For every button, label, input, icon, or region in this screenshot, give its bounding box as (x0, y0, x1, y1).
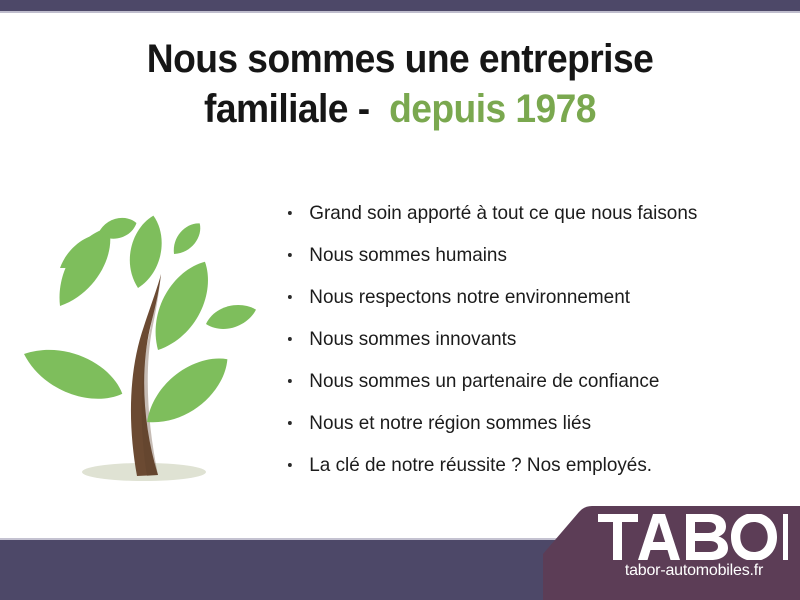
list-item-label: Nous respectons notre environnement (286, 276, 630, 318)
top-accent-bar-highlight (0, 11, 800, 13)
bullet-dot-icon (288, 295, 292, 299)
bullet-dot-icon (288, 379, 292, 383)
tree-leaf (167, 218, 207, 260)
list-item-label: Nous sommes humains (286, 234, 507, 276)
list-item: La clé de notre réussite ? Nos employés. (286, 444, 771, 486)
list-item: Nous sommes humains (286, 234, 771, 276)
list-item: Nous respectons notre environnement (286, 276, 771, 318)
slide-canvas: Nous sommes une entreprise familiale - d… (0, 0, 800, 600)
tree-trunk-shade (142, 274, 161, 476)
tree-illustration (16, 176, 276, 496)
tree-leaf (135, 344, 239, 438)
list-item-label: Grand soin apporté à tout ce que nous fa… (286, 192, 697, 234)
list-item-label: Nous sommes un partenaire de confiance (286, 360, 659, 402)
list-item: Nous et notre région sommes liés (286, 402, 771, 444)
page-title-accent: depuis 1978 (389, 87, 596, 131)
page-title-line-2-plain: familiale - (204, 87, 389, 131)
page-title-line-2: familiale - depuis 1978 (28, 84, 772, 134)
list-item: Grand soin apporté à tout ce que nous fa… (286, 192, 771, 234)
list-item-label: La clé de notre réussite ? Nos employés. (286, 444, 652, 486)
bullet-dot-icon (288, 463, 292, 467)
logo-tagline: tabor-automobiles.fr (598, 562, 790, 580)
top-accent-bar (0, 0, 800, 11)
bullet-dot-icon (288, 211, 292, 215)
page-title: Nous sommes une entreprise familiale - d… (28, 34, 772, 134)
list-item: Nous sommes un partenaire de confiance (286, 360, 771, 402)
list-item: Nous sommes innovants (286, 318, 771, 360)
tree-leaf (203, 299, 259, 334)
bullet-dot-icon (288, 421, 292, 425)
list-item-label: Nous et notre région sommes liés (286, 402, 591, 444)
page-title-line-1: Nous sommes une entreprise (28, 34, 772, 84)
logo-wordmark (598, 514, 788, 560)
logo-wordmark-letters (598, 514, 788, 560)
tree-leaf (17, 336, 130, 412)
list-item-label: Nous sommes innovants (286, 318, 516, 360)
bullet-dot-icon (288, 253, 292, 257)
value-list: Grand soin apporté à tout ce que nous fa… (286, 192, 786, 486)
bullet-dot-icon (288, 337, 292, 341)
